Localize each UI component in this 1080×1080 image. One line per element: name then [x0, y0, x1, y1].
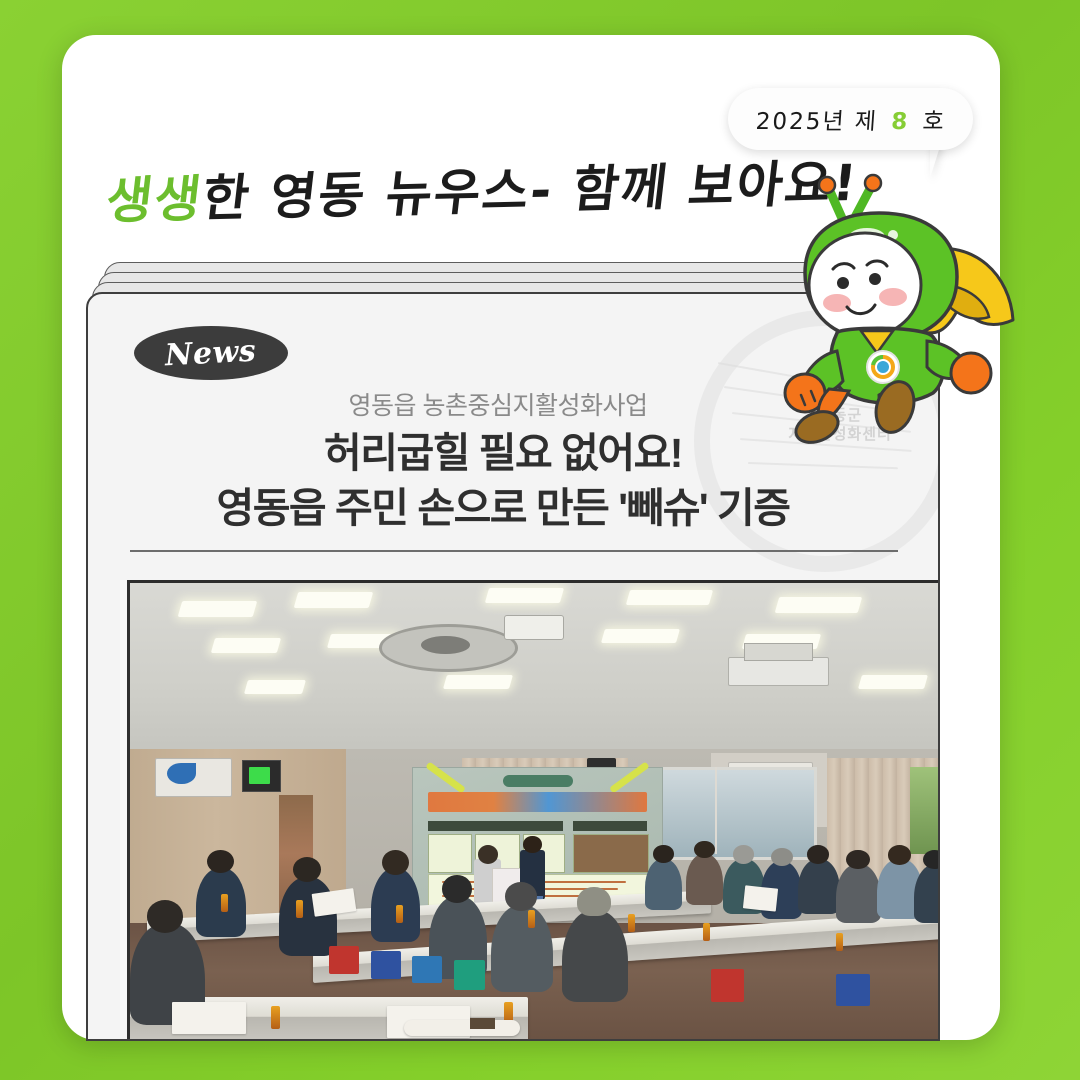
issue-number-bubble: 2025년 제 8 호 [728, 88, 973, 150]
drink-bottle [528, 910, 535, 928]
person-head [888, 845, 911, 864]
ceiling-light [294, 592, 373, 608]
person-head-hat [577, 887, 610, 916]
exit-sign-glyph [249, 767, 271, 784]
screen-col1-header [428, 821, 562, 831]
ceiling-projector [728, 657, 830, 687]
screen-beam-left [425, 761, 466, 793]
ceiling-light [178, 601, 257, 617]
person-head [807, 845, 829, 863]
county-emblem-icon [167, 763, 195, 784]
person-head [505, 882, 537, 911]
presenter-head [478, 845, 498, 863]
ceiling-light [443, 675, 513, 689]
ceiling-light [485, 588, 564, 603]
handwritten-title-rest: 한 영동 뉴우스- 함께 보아요! [199, 154, 861, 228]
standing-man-head [523, 836, 541, 853]
seated-person [279, 877, 337, 955]
seated-person [686, 854, 723, 905]
issue-number: 8 [886, 109, 914, 135]
person-head [653, 845, 674, 862]
drink-bottle-front [271, 1006, 280, 1029]
mascot-antenna-ball-left [819, 177, 835, 193]
window-mullion [715, 767, 717, 854]
news-badge: News [134, 326, 288, 380]
mascot-eye-right [869, 273, 881, 285]
screen-col2-header [573, 821, 648, 831]
issue-number-text: 2025년 제 8 호 [754, 102, 946, 136]
mascot-eye-left [837, 277, 849, 289]
handout-paper [172, 1002, 247, 1034]
seated-person [562, 910, 628, 1002]
mascot-glove-right [951, 353, 991, 393]
mascot-cheek-right [879, 288, 907, 306]
mascot-face [809, 233, 921, 337]
under-table-bag [836, 974, 871, 1006]
ceiling-light [858, 675, 928, 689]
person-head [382, 850, 409, 875]
person-head [293, 857, 321, 882]
mascot-emblem-core [877, 361, 889, 373]
ceiling-light [601, 629, 680, 643]
under-table-bag [454, 960, 486, 990]
person-head-cap [442, 875, 472, 903]
rolled-poster [404, 1020, 520, 1036]
screen-usage-photo [573, 834, 650, 873]
ceiling-light [211, 638, 282, 653]
yeongdong-mascot [775, 155, 1025, 455]
drink-bottle [836, 933, 843, 951]
ceiling-light [244, 680, 306, 694]
seated-person [836, 864, 882, 924]
seated-person [645, 859, 682, 910]
screen-product-img-1 [428, 834, 472, 873]
headline-line-2: 영동읍 주민 손으로 만든 '빼슈' 기증 [88, 481, 918, 536]
screen-beam-right [610, 761, 651, 793]
projector-mount [504, 615, 564, 640]
under-table-bag [371, 951, 401, 979]
person-head [846, 850, 869, 869]
screen-heading-bar [428, 792, 647, 813]
mascot-cheek-left [823, 294, 851, 312]
handwritten-title-accent: 생생 [103, 170, 206, 230]
drink-bottle [221, 894, 228, 912]
drink-bottle [703, 923, 710, 941]
seated-person [491, 905, 553, 992]
headline-divider [130, 550, 898, 552]
issue-suffix: 호 [921, 109, 946, 135]
projector-bracket [744, 643, 812, 661]
person-head [147, 900, 184, 932]
issue-prefix: 2025년 제 [754, 109, 878, 135]
drink-bottle [396, 905, 403, 923]
ceiling-light [626, 590, 713, 605]
person-head [207, 850, 234, 873]
drink-bottle [628, 914, 635, 932]
seated-person [798, 859, 840, 914]
article-photo [127, 580, 940, 1041]
under-table-bag [711, 969, 744, 1001]
mascot-antenna-ball-right [865, 175, 881, 191]
window-foliage [910, 767, 940, 854]
notebook-front [470, 1018, 495, 1029]
news-badge-label: News [165, 333, 258, 373]
person-head [694, 841, 715, 858]
screen-pill-label [503, 775, 573, 787]
person-head-gray [771, 848, 793, 866]
under-table-bag [412, 956, 442, 984]
news-card-canvas: 2025년 제 8 호 생생한 영동 뉴우스- 함께 보아요! 영동군 지역활성… [0, 0, 1080, 1080]
person-head-gray [733, 845, 755, 863]
drink-bottle [296, 900, 303, 918]
ceiling-light [775, 597, 862, 613]
handout-paper [743, 885, 778, 911]
under-table-bag [329, 946, 359, 974]
